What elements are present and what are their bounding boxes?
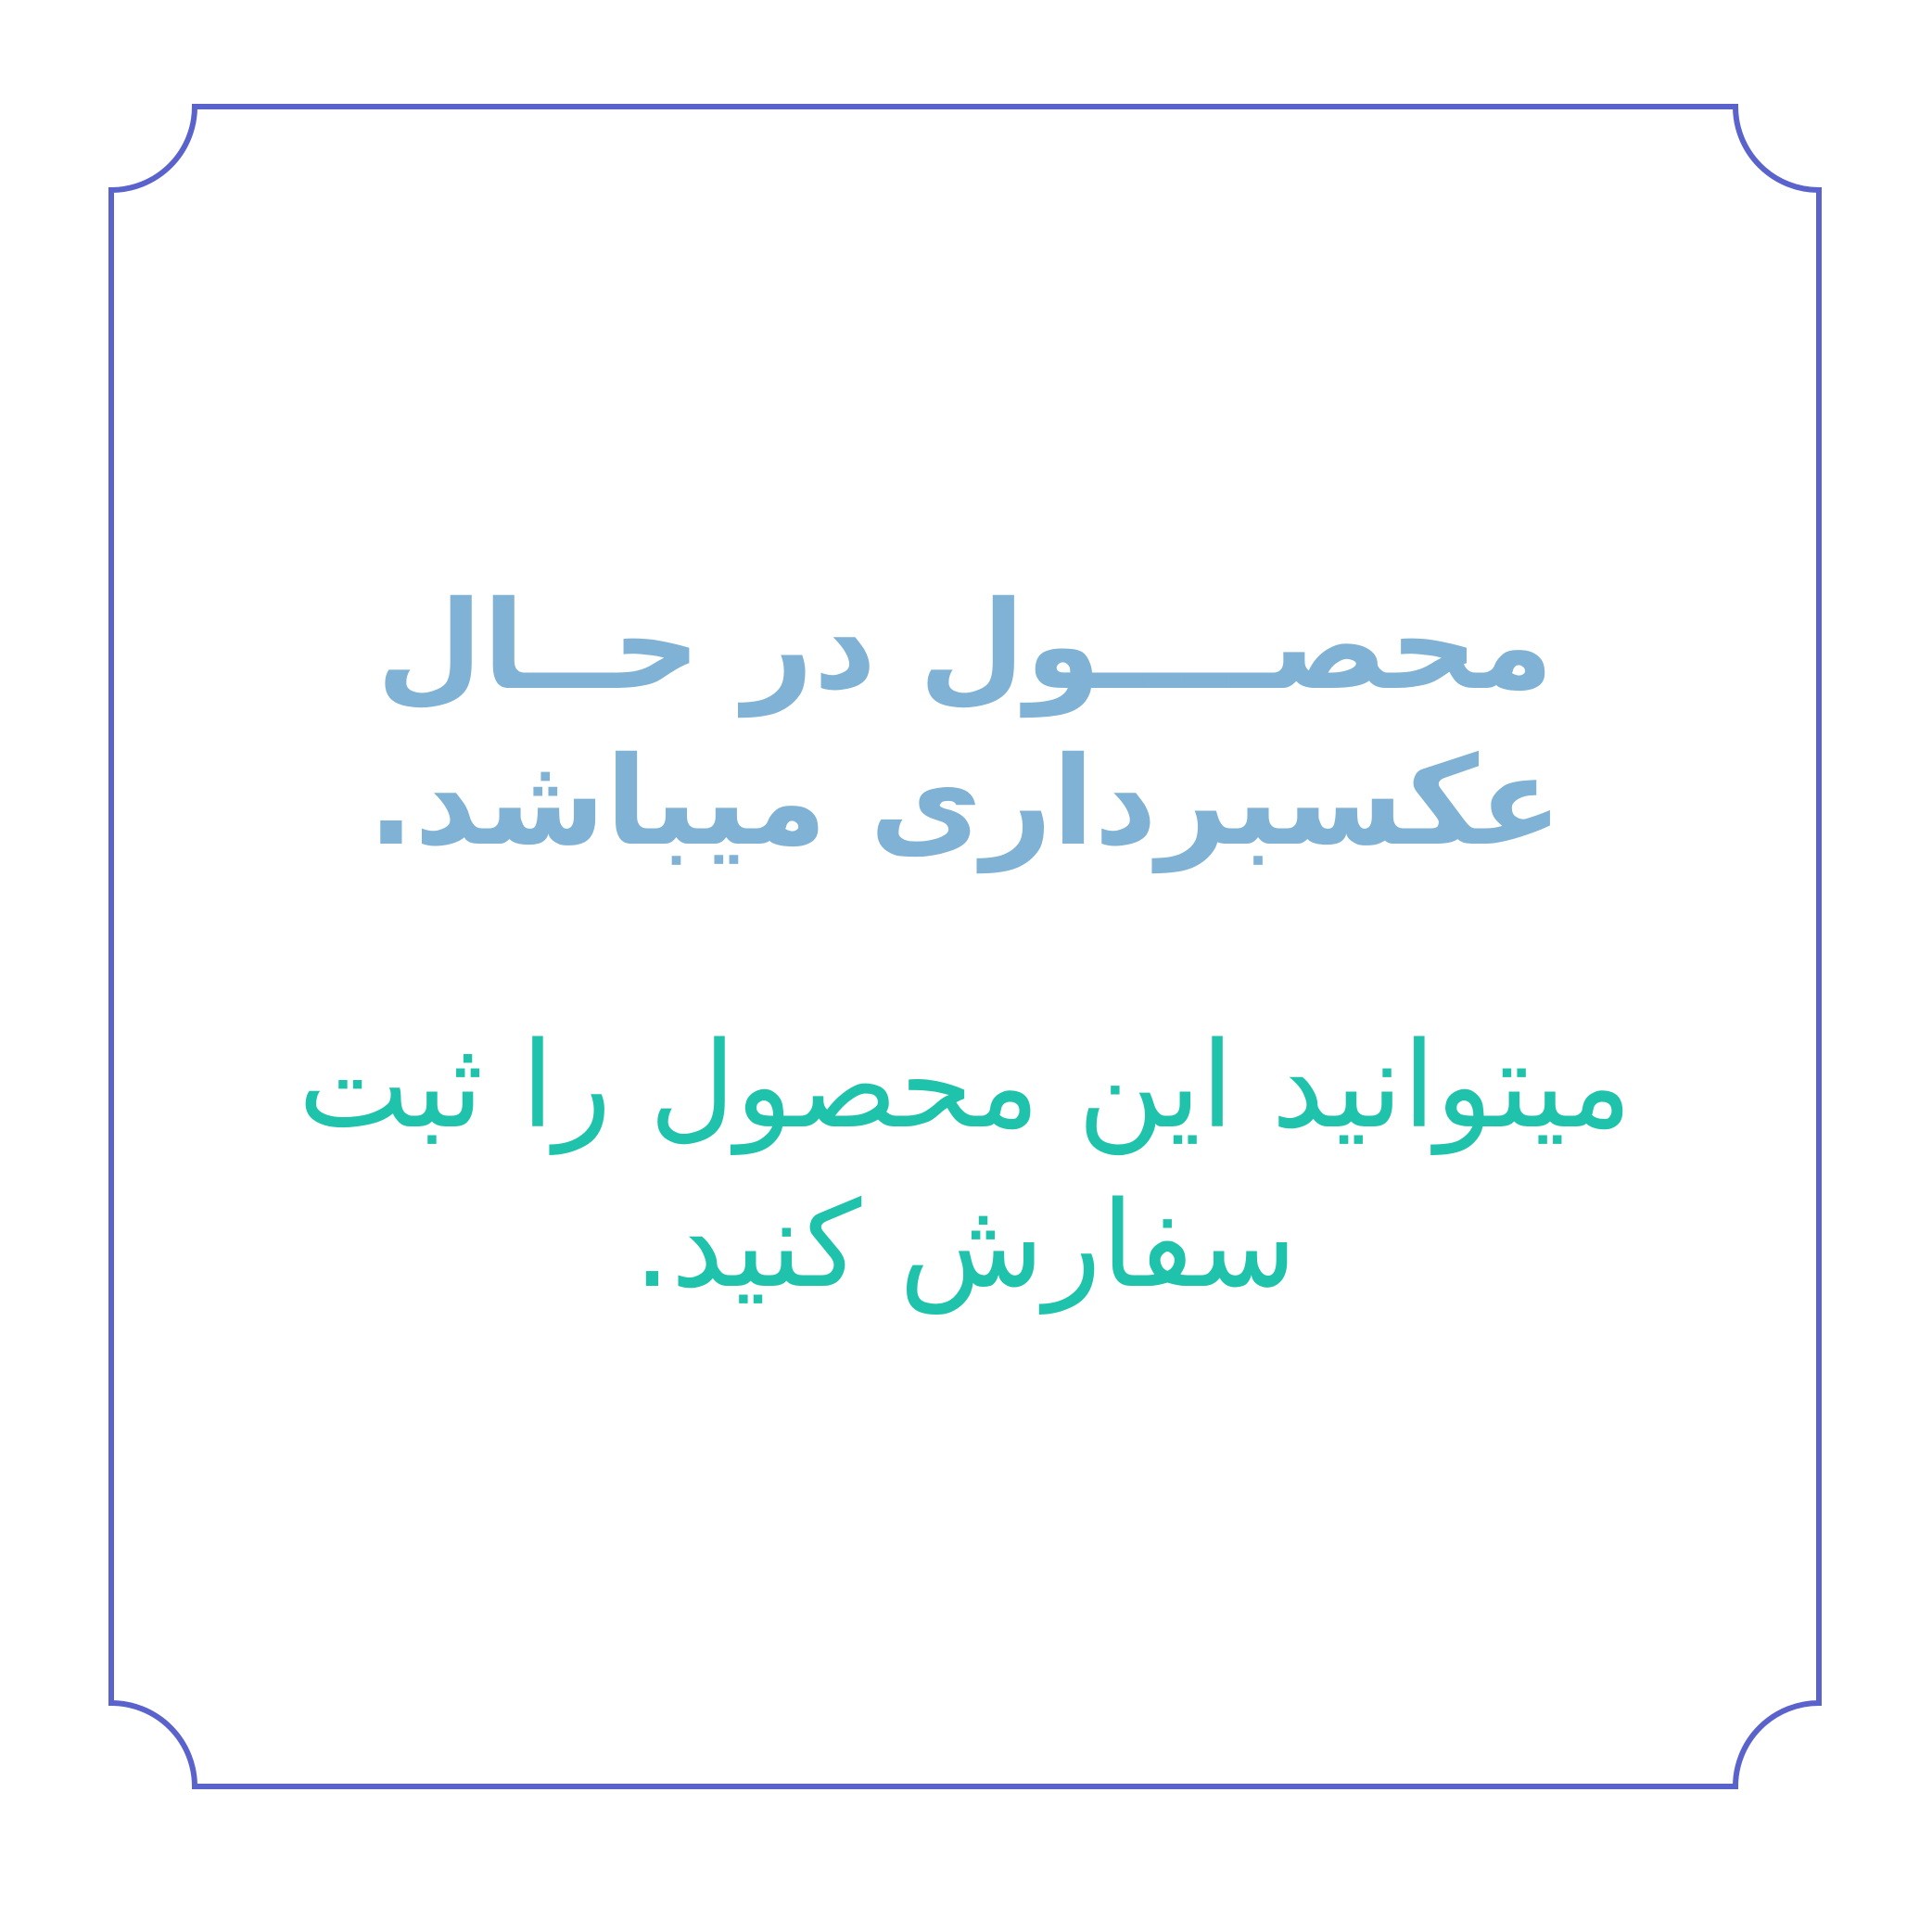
- action-message-text: میتوانید این محصول را ثبت سفارش کنید.: [167, 1007, 1763, 1325]
- placeholder-card-canvas: محصــــول در حــال عکسبرداری میباشد. میت…: [0, 0, 1932, 1932]
- message-container: محصــــول در حــال عکسبرداری میباشد. میت…: [111, 107, 1819, 1786]
- action-message-block: میتوانید این محصول را ثبت سفارش کنید.: [167, 970, 1763, 1325]
- status-message-block: محصــــول در حــال عکسبرداری میباشد.: [167, 568, 1763, 934]
- status-message-text: محصــــول در حــال عکسبرداری میباشد.: [167, 568, 1763, 882]
